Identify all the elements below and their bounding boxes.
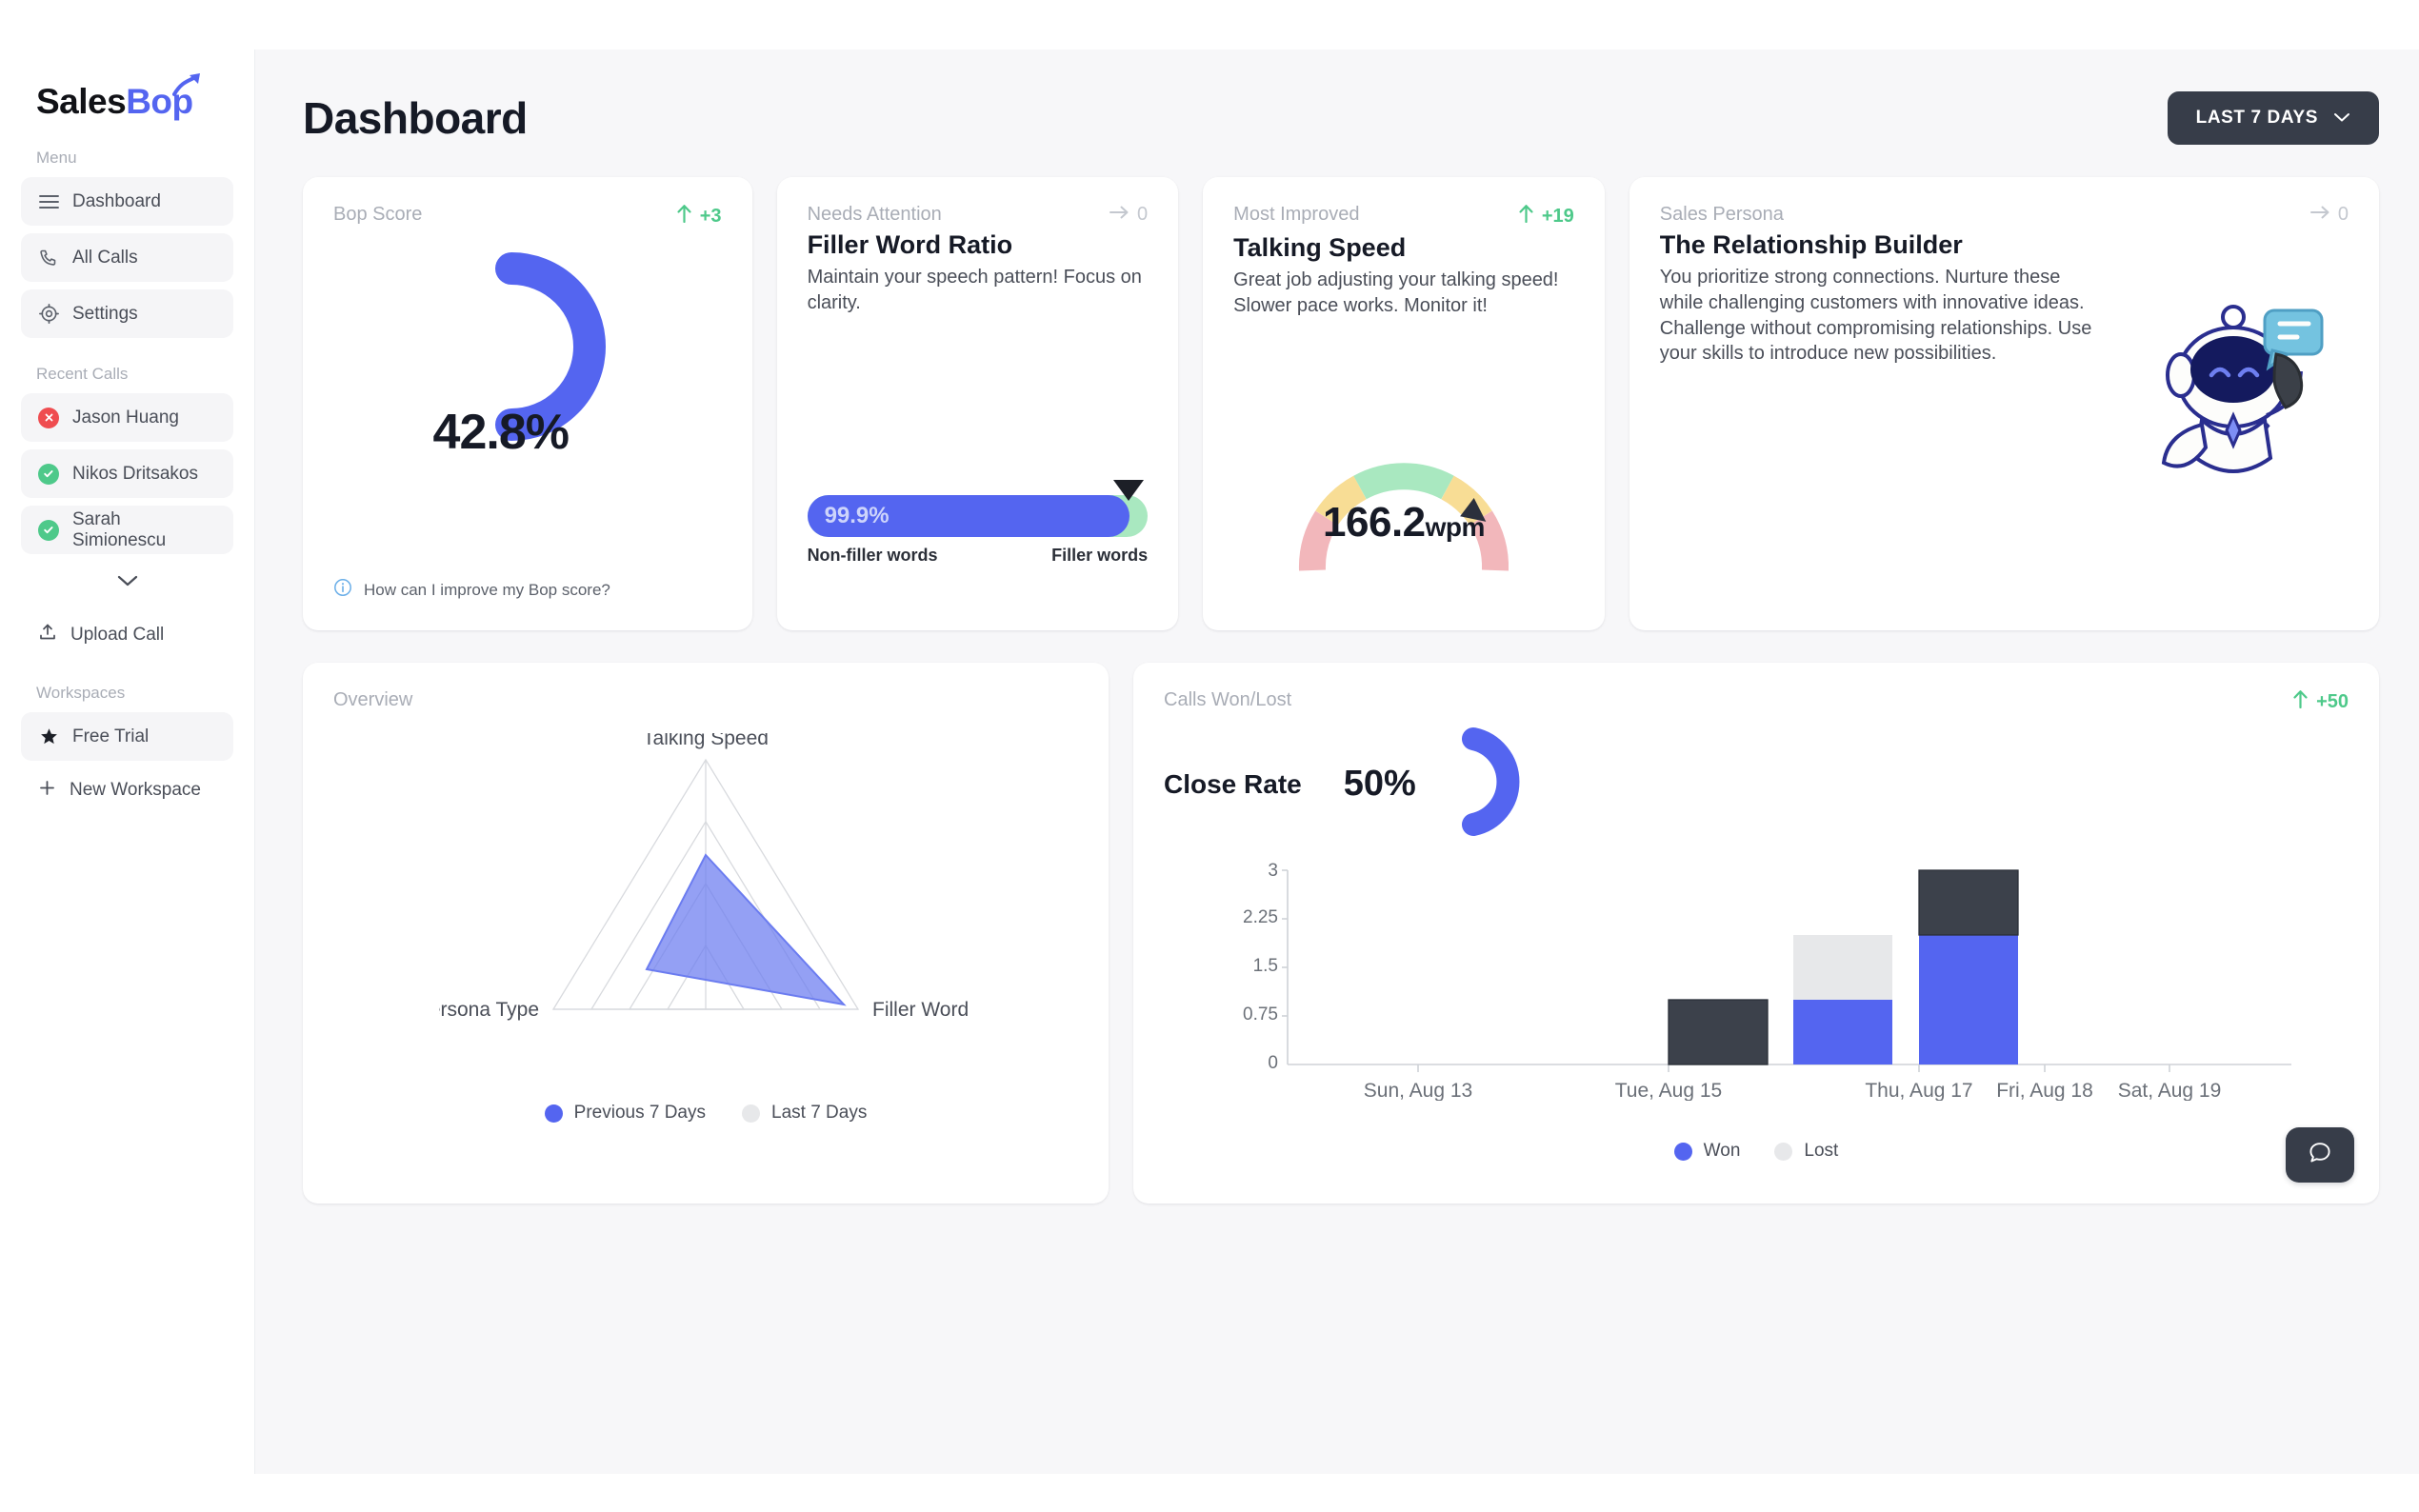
bar-track: 99.9% bbox=[808, 495, 1149, 537]
bar-label-right: Filler words bbox=[1051, 546, 1148, 566]
radar-axis-label: Persona Type bbox=[439, 999, 539, 1021]
status-badge: 0 bbox=[1109, 204, 1148, 226]
bar-fill: 99.9% bbox=[808, 495, 1130, 537]
menu-section-label: Menu bbox=[36, 149, 233, 168]
new-workspace-button[interactable]: New Workspace bbox=[21, 768, 233, 812]
bar-group-thu-aug-17 bbox=[1793, 935, 1892, 1064]
persona-text-block: The Relationship Builder You prioritize … bbox=[1660, 230, 2108, 367]
card-title: The Relationship Builder bbox=[1660, 230, 2108, 260]
calls-legend: Won Lost bbox=[1133, 1141, 2379, 1162]
card-body: You prioritize strong connections. Nurtu… bbox=[1660, 265, 2108, 367]
sidebar-item-label: All Calls bbox=[72, 248, 138, 269]
card-title: Filler Word Ratio bbox=[808, 230, 1149, 260]
legend-item-won[interactable]: Won bbox=[1674, 1141, 1741, 1162]
recent-calls-section-label: Recent Calls bbox=[36, 365, 233, 384]
upload-call-button[interactable]: Upload Call bbox=[21, 613, 233, 657]
bar-label-left: Non-filler words bbox=[808, 546, 938, 566]
card-body: Maintain your speech pattern! Focus on c… bbox=[808, 265, 1149, 316]
card-kicker: Needs Attention bbox=[808, 204, 942, 226]
charts-row: Overview Talking Speed bbox=[303, 663, 2379, 1204]
arrow-up-icon bbox=[676, 204, 692, 229]
card-header: Calls Won/Lost +50 bbox=[1164, 689, 2349, 714]
x-tick-label: Sun, Aug 13 bbox=[1364, 1080, 1472, 1101]
improve-score-link[interactable]: How can I improve my Bop score? bbox=[333, 578, 610, 602]
sidebar: SalesBop Menu Dashboard bbox=[0, 50, 255, 1474]
legend-swatch-icon bbox=[1674, 1143, 1692, 1161]
logo-text-primary: Sales bbox=[36, 82, 126, 121]
legend-swatch-icon bbox=[545, 1104, 563, 1123]
x-tick-label: Fri, Aug 18 bbox=[1996, 1080, 2093, 1101]
growth-arrow-icon bbox=[172, 69, 205, 109]
app-logo[interactable]: SalesBop bbox=[36, 82, 193, 122]
workspace-label: Free Trial bbox=[72, 726, 149, 747]
x-circle-icon bbox=[38, 408, 59, 428]
legend-item-previous-7-days[interactable]: Previous 7 Days bbox=[545, 1103, 706, 1124]
legend-label: Won bbox=[1704, 1141, 1741, 1162]
workspace-label: New Workspace bbox=[70, 780, 201, 801]
sidebar-item-all-calls[interactable]: All Calls bbox=[21, 233, 233, 282]
top-strip bbox=[0, 0, 2419, 50]
delta-value: +50 bbox=[2316, 691, 2349, 713]
y-tick-label: 0.75 bbox=[1243, 1005, 1278, 1025]
delta-value: 0 bbox=[2338, 204, 2349, 226]
improve-score-label: How can I improve my Bop score? bbox=[364, 581, 610, 600]
close-rate-value: 50% bbox=[1344, 764, 1416, 805]
filler-word-ratio-bar: 99.9% Non-filler words Filler words bbox=[808, 495, 1149, 566]
gauge-unit: wpm bbox=[1426, 512, 1485, 542]
check-circle-icon bbox=[38, 520, 59, 541]
y-tick-label: 2.25 bbox=[1243, 907, 1278, 927]
metric-cards-row: Bop Score +3 42.8% bbox=[303, 177, 2379, 630]
gauge-value: 166.2wpm bbox=[1203, 499, 1605, 547]
arrow-up-icon bbox=[2292, 689, 2309, 714]
legend-swatch-icon bbox=[1774, 1143, 1792, 1161]
card-header: Sales Persona 0 bbox=[1660, 204, 2349, 226]
card-kicker: Bop Score bbox=[333, 204, 422, 226]
page-title: Dashboard bbox=[303, 92, 528, 144]
phone-icon bbox=[38, 249, 59, 268]
status-badge: +3 bbox=[676, 204, 722, 229]
card-header: Most Improved +19 bbox=[1233, 204, 1574, 229]
delta-value: 0 bbox=[1137, 204, 1148, 226]
sidebar-item-dashboard[interactable]: Dashboard bbox=[21, 177, 233, 226]
status-badge: 0 bbox=[2309, 204, 2349, 226]
sidebar-item-settings[interactable]: Settings bbox=[21, 289, 233, 338]
bottom-strip bbox=[0, 1474, 2419, 1512]
card-kicker: Most Improved bbox=[1233, 204, 1359, 226]
x-tick-label: Thu, Aug 17 bbox=[1865, 1080, 1972, 1101]
date-range-button[interactable]: LAST 7 DAYS bbox=[2168, 91, 2379, 145]
x-tick-label: Sat, Aug 19 bbox=[2118, 1080, 2222, 1101]
gauge-number: 166.2 bbox=[1323, 499, 1426, 546]
arrow-right-icon bbox=[2309, 204, 2330, 226]
recent-call-name: Nikos Dritsakos bbox=[72, 464, 198, 485]
card-needs-attention: Needs Attention 0 Filler Word Ratio Main… bbox=[777, 177, 1179, 630]
delta-value: +19 bbox=[1542, 206, 1574, 228]
card-body: Great job adjusting your talking speed! … bbox=[1233, 268, 1574, 319]
card-overview: Overview Talking Speed bbox=[303, 663, 1109, 1204]
date-range-label: LAST 7 DAYS bbox=[2196, 108, 2318, 129]
star-icon bbox=[38, 727, 59, 746]
card-kicker: Overview bbox=[333, 689, 412, 710]
status-badge: +50 bbox=[2292, 689, 2349, 714]
card-kicker: Sales Persona bbox=[1660, 204, 1784, 226]
card-header: Bop Score +3 bbox=[333, 204, 722, 229]
bar-group-tue-aug-15 bbox=[1669, 1000, 1768, 1064]
radar-axis-label: Filler Word Ratio bbox=[872, 999, 972, 1021]
y-tick-label: 1.5 bbox=[1253, 956, 1278, 976]
close-rate-row: Close Rate 50% bbox=[1164, 726, 1534, 843]
x-tick-label: Tue, Aug 15 bbox=[1615, 1080, 1722, 1101]
radar-axis-label: Talking Speed bbox=[643, 733, 769, 749]
legend-swatch-icon bbox=[742, 1104, 760, 1123]
gear-icon bbox=[38, 304, 59, 324]
plus-icon bbox=[38, 779, 56, 803]
sidebar-item-label: Dashboard bbox=[72, 191, 161, 212]
expand-recent-calls-button[interactable] bbox=[21, 562, 233, 604]
card-header: Needs Attention 0 bbox=[808, 204, 1149, 226]
robot-mascot-icon bbox=[2143, 291, 2333, 487]
legend-item-last-7-days[interactable]: Last 7 Days bbox=[742, 1103, 867, 1124]
check-circle-icon bbox=[38, 464, 59, 485]
bar-axis-labels: Non-filler words Filler words bbox=[808, 546, 1149, 566]
recent-call-item-nikos-dritsakos[interactable]: Nikos Dritsakos bbox=[21, 449, 233, 498]
card-calls-won-lost: Calls Won/Lost +50 Close Rate 50% bbox=[1133, 663, 2379, 1204]
chat-button[interactable] bbox=[2286, 1127, 2354, 1183]
main-content: Dashboard LAST 7 DAYS Bop Score +3 bbox=[255, 50, 2419, 1474]
y-tick-label: 3 bbox=[1268, 863, 1278, 881]
page-header: Dashboard LAST 7 DAYS bbox=[303, 84, 2379, 152]
legend-label: Last 7 Days bbox=[771, 1103, 867, 1124]
upload-icon bbox=[38, 623, 57, 647]
dashboard-page: SalesBop Menu Dashboard bbox=[0, 0, 2419, 1512]
recent-call-name: Sarah Simionescu bbox=[72, 509, 216, 551]
bar-group-fri-aug-18 bbox=[1919, 870, 2018, 1064]
calls-bar-chart: 0 0.75 1.5 2.25 3 bbox=[1215, 863, 2301, 1105]
card-kicker: Calls Won/Lost bbox=[1164, 689, 1291, 711]
card-most-improved: Most Improved +19 Talking Speed Great jo… bbox=[1203, 177, 1605, 630]
workspace-item-free-trial[interactable]: Free Trial bbox=[21, 712, 233, 761]
close-rate-arc bbox=[1452, 726, 1534, 843]
overview-radar-chart: Talking Speed Filler Word Ratio Persona … bbox=[303, 733, 1109, 1066]
legend-item-lost[interactable]: Lost bbox=[1774, 1141, 1838, 1162]
arrow-right-icon bbox=[1109, 204, 1130, 226]
menu-lines-icon bbox=[38, 194, 59, 209]
close-rate-label: Close Rate bbox=[1164, 769, 1302, 800]
sidebar-item-label: Settings bbox=[72, 304, 138, 325]
card-bop-score: Bop Score +3 42.8% bbox=[303, 177, 752, 630]
chevron-down-icon bbox=[2333, 108, 2350, 129]
recent-call-name: Jason Huang bbox=[72, 408, 179, 428]
delta-value: +3 bbox=[700, 206, 722, 228]
overview-legend: Previous 7 Days Last 7 Days bbox=[303, 1103, 1109, 1124]
legend-label: Lost bbox=[1804, 1141, 1838, 1162]
recent-call-item-sarah-simionescu[interactable]: Sarah Simionescu bbox=[21, 506, 233, 554]
card-sales-persona: Sales Persona 0 The Relationship Builder… bbox=[1629, 177, 2379, 630]
chevron-down-icon bbox=[116, 574, 139, 592]
recent-call-item-jason-huang[interactable]: Jason Huang bbox=[21, 393, 233, 442]
upload-call-label: Upload Call bbox=[70, 625, 164, 646]
info-icon bbox=[333, 578, 352, 602]
status-badge: +19 bbox=[1518, 204, 1574, 229]
chat-bubble-icon bbox=[2306, 1139, 2334, 1172]
legend-label: Previous 7 Days bbox=[574, 1103, 706, 1124]
bar-value-label: 99.9% bbox=[825, 503, 890, 529]
workspaces-section-label: Workspaces bbox=[36, 684, 233, 703]
card-title: Talking Speed bbox=[1233, 233, 1574, 263]
bop-score-value: 42.8% bbox=[303, 404, 752, 461]
threshold-marker-icon bbox=[1113, 480, 1144, 501]
arrow-up-icon bbox=[1518, 204, 1534, 229]
y-tick-label: 0 bbox=[1268, 1053, 1278, 1073]
